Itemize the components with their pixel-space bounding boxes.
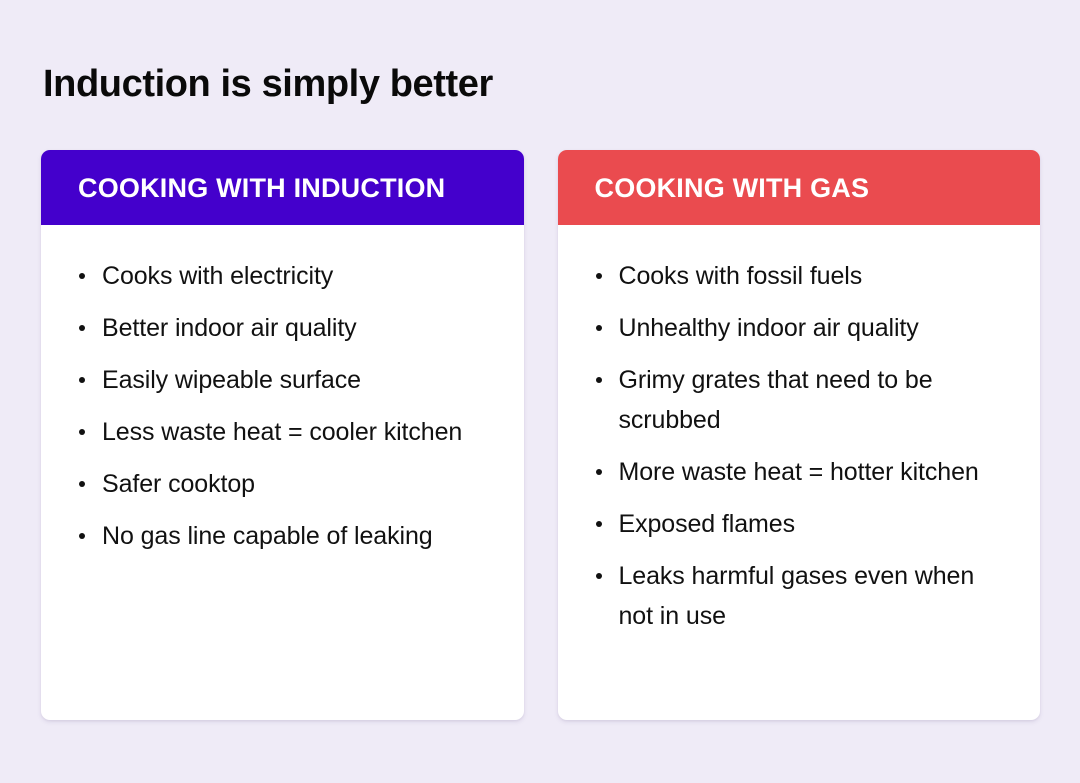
comparison-cards: COOKING WITH INDUCTION Cooks with electr…: [41, 150, 1040, 720]
card-header-induction: COOKING WITH INDUCTION: [41, 150, 524, 225]
list-item-label: No gas line capable of leaking: [102, 522, 433, 550]
list-item: Unhealthy indoor air quality: [595, 308, 1007, 348]
bullet-icon: [596, 273, 602, 279]
list-item: More waste heat = hotter kitchen: [595, 452, 1007, 492]
list-item-label: Easily wipeable surface: [102, 366, 361, 394]
list-item: Cooks with electricity: [78, 256, 490, 296]
list-item: Less waste heat = cooler kitchen: [78, 412, 490, 452]
list-item-label: More waste heat = hotter kitchen: [619, 458, 979, 486]
list-item-label: Unhealthy indoor air quality: [619, 314, 919, 342]
list-item-label: Exposed flames: [619, 510, 795, 538]
bullet-icon: [79, 429, 85, 435]
card-body-induction: Cooks with electricity Better indoor air…: [41, 225, 524, 720]
list-item-label: Grimy grates that need to be scrubbed: [619, 366, 933, 434]
list-item: No gas line capable of leaking: [78, 516, 490, 556]
benefit-list-gas: Cooks with fossil fuels Unhealthy indoor…: [595, 256, 1007, 636]
list-item: Exposed flames: [595, 504, 1007, 544]
list-item: Safer cooktop: [78, 464, 490, 504]
bullet-icon: [79, 481, 85, 487]
card-header-gas: COOKING WITH GAS: [558, 150, 1041, 225]
card-cooking-with-gas: COOKING WITH GAS Cooks with fossil fuels…: [558, 150, 1041, 720]
list-item-label: Safer cooktop: [102, 470, 255, 498]
card-header-title-induction: COOKING WITH INDUCTION: [78, 173, 445, 203]
bullet-icon: [596, 521, 602, 527]
list-item-label: Better indoor air quality: [102, 314, 357, 342]
list-item: Cooks with fossil fuels: [595, 256, 1007, 296]
list-item: Better indoor air quality: [78, 308, 490, 348]
benefit-list-induction: Cooks with electricity Better indoor air…: [78, 256, 490, 556]
card-header-title-gas: COOKING WITH GAS: [595, 173, 870, 203]
bullet-icon: [596, 325, 602, 331]
card-cooking-with-induction: COOKING WITH INDUCTION Cooks with electr…: [41, 150, 524, 720]
list-item-label: Less waste heat = cooler kitchen: [102, 418, 462, 446]
list-item: Leaks harmful gases even when not in use: [595, 556, 1007, 636]
bullet-icon: [79, 533, 85, 539]
bullet-icon: [79, 273, 85, 279]
list-item-label: Leaks harmful gases even when not in use: [619, 562, 975, 630]
bullet-icon: [596, 469, 602, 475]
bullet-icon: [596, 573, 602, 579]
list-item: Easily wipeable surface: [78, 360, 490, 400]
bullet-icon: [79, 377, 85, 383]
comparison-infographic: Induction is simply better COOKING WITH …: [0, 0, 1080, 783]
list-item-label: Cooks with fossil fuels: [619, 262, 863, 290]
page-title: Induction is simply better: [43, 61, 493, 107]
list-item: Grimy grates that need to be scrubbed: [595, 360, 1007, 440]
card-body-gas: Cooks with fossil fuels Unhealthy indoor…: [558, 225, 1041, 720]
bullet-icon: [596, 377, 602, 383]
bullet-icon: [79, 325, 85, 331]
list-item-label: Cooks with electricity: [102, 262, 333, 290]
